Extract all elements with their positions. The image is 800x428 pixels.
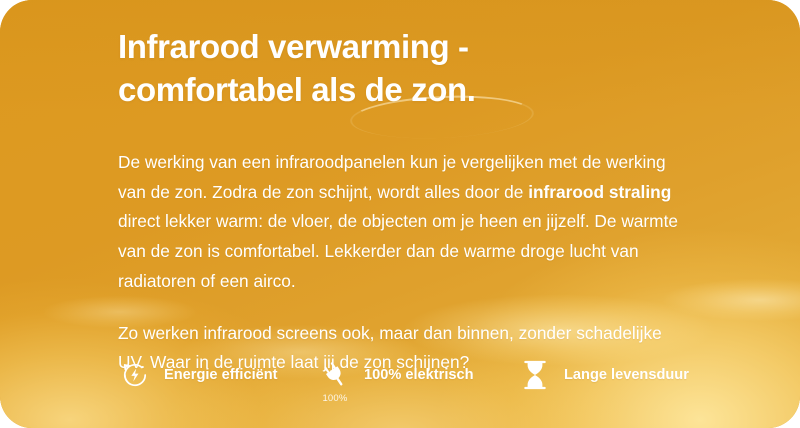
feature-list: Energie efficiënt 100% 100% elektrisch: [118, 358, 689, 392]
hourglass-icon: [518, 358, 552, 392]
feature-label-long-lifespan: Lange levensduur: [564, 367, 689, 383]
feature-label-100-percent-electric: 100% elektrisch: [364, 367, 474, 383]
feature-item-100-percent-electric: 100% 100% elektrisch: [318, 358, 518, 392]
page-title-line-1: Infrarood verwarming -: [118, 26, 718, 69]
paragraph-1-part-2: direct lekker warm: de vloer, de objecte…: [118, 211, 678, 291]
feature-item-energy-efficient: Energie efficiënt: [118, 358, 318, 392]
energy-cycle-bolt-icon: [118, 358, 152, 392]
page-title-line-2: comfortabel als de zon.: [118, 69, 718, 112]
infrared-heating-promo-card: Infrarood verwarming - comfortabel als d…: [0, 0, 800, 428]
paragraph-1: De werking van een infraroodpanelen kun …: [118, 148, 690, 297]
power-plug-icon-sublabel: 100%: [322, 393, 347, 404]
feature-label-energy-efficient: Energie efficiënt: [164, 367, 278, 383]
page-title: Infrarood verwarming - comfortabel als d…: [118, 26, 718, 112]
paragraph-1-emphasis: infrarood straling: [528, 182, 671, 202]
feature-item-long-lifespan: Lange levensduur: [518, 358, 689, 392]
body-copy: De werking van een infraroodpanelen kun …: [118, 148, 690, 378]
power-plug-icon: 100%: [318, 358, 352, 392]
